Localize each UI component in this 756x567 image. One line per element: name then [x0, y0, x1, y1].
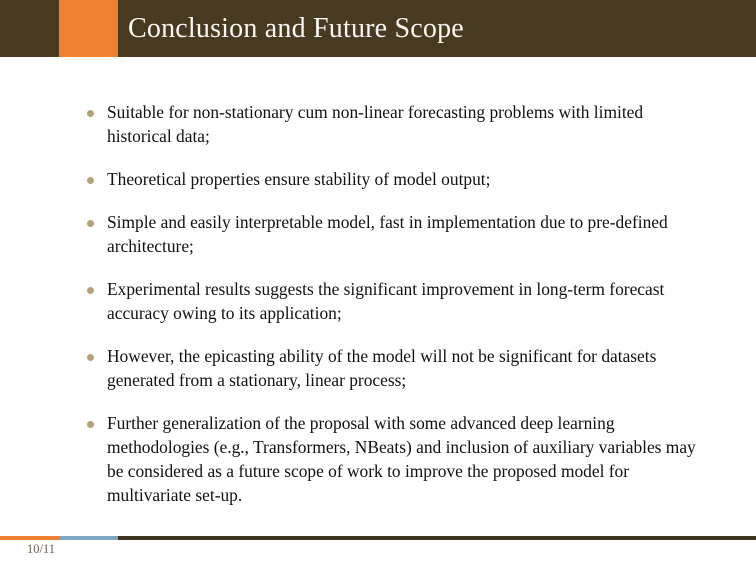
list-item-text: However, the epicasting ability of the m…: [107, 344, 704, 392]
slide: Conclusion and Future Scope Suitable for…: [0, 0, 756, 567]
bullet-list: Suitable for non-stationary cum non-line…: [86, 100, 704, 507]
list-item-text: Theoretical properties ensure stability …: [107, 167, 704, 191]
bullet-dot-icon: [87, 287, 94, 294]
footer-rule-segment-orange: [0, 536, 59, 540]
list-item: Further generalization of the proposal w…: [86, 411, 704, 507]
list-item: Experimental results suggests the signif…: [86, 277, 704, 325]
footer-rule-segment-blue: [59, 536, 118, 540]
list-item-text: Suitable for non-stationary cum non-line…: [107, 100, 704, 148]
list-item: However, the epicasting ability of the m…: [86, 344, 704, 392]
bullet-dot-icon: [87, 177, 94, 184]
page-title: Conclusion and Future Scope: [128, 0, 464, 57]
bullet-dot-icon: [87, 354, 94, 361]
bullet-dot-icon: [87, 220, 94, 227]
bullet-dot-icon: [87, 110, 94, 117]
page-number: 10/11: [27, 541, 55, 557]
list-item-text: Simple and easily interpretable model, f…: [107, 210, 704, 258]
header-accent-block: [59, 0, 118, 57]
list-item: Suitable for non-stationary cum non-line…: [86, 100, 704, 148]
slide-header: Conclusion and Future Scope: [0, 0, 756, 57]
list-item: Simple and easily interpretable model, f…: [86, 210, 704, 258]
list-item: Theoretical properties ensure stability …: [86, 167, 704, 191]
footer-rule: [0, 536, 756, 540]
footer-rule-segment-brown: [118, 536, 756, 540]
bullet-dot-icon: [87, 421, 94, 428]
list-item-text: Experimental results suggests the signif…: [107, 277, 704, 325]
list-item-text: Further generalization of the proposal w…: [107, 411, 704, 507]
